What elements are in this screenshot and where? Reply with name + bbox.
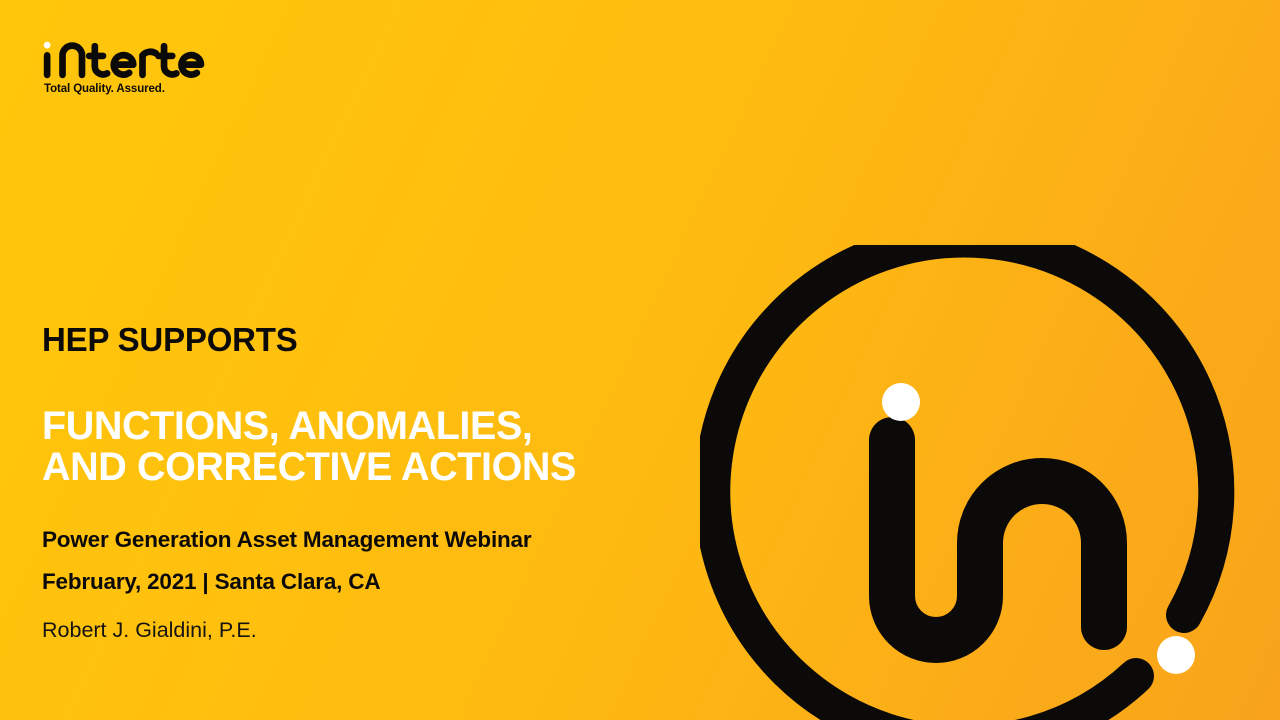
subtitle-line-2: February, 2021 | Santa Clara, CA xyxy=(42,561,682,602)
title-block: HEP SUPPORTS FUNCTIONS, ANOMALIES, AND C… xyxy=(42,322,682,642)
logo-ring xyxy=(712,245,1216,720)
wordmark-i-dot-icon xyxy=(44,42,51,49)
intertek-wordmark-icon xyxy=(42,40,206,80)
subtitle-line-1: Power Generation Asset Management Webina… xyxy=(42,527,531,552)
logo-monogram-in xyxy=(892,440,1104,640)
logo-i-dot-icon xyxy=(882,383,920,421)
headline-line-2: CORRECTIVE ACTIONS xyxy=(137,445,576,489)
presentation-slide: Total Quality. Assured. HEP SUPPORTS FUN… xyxy=(0,0,1280,720)
slide-subtitle: Power Generation Asset Management Webina… xyxy=(42,489,682,601)
logo-accent-dot-icon xyxy=(1157,636,1195,674)
brand-tagline: Total Quality. Assured. xyxy=(44,83,342,95)
slide-presenter: Robert J. Gialdini, P.E. xyxy=(42,602,682,643)
brand-lockup: Total Quality. Assured. xyxy=(42,40,342,95)
intertek-in-circle-logo-icon xyxy=(700,245,1260,720)
slide-headline: FUNCTIONS, ANOMALIES, AND CORRECTIVE ACT… xyxy=(42,358,602,490)
slide-eyebrow: HEP SUPPORTS xyxy=(42,322,682,358)
